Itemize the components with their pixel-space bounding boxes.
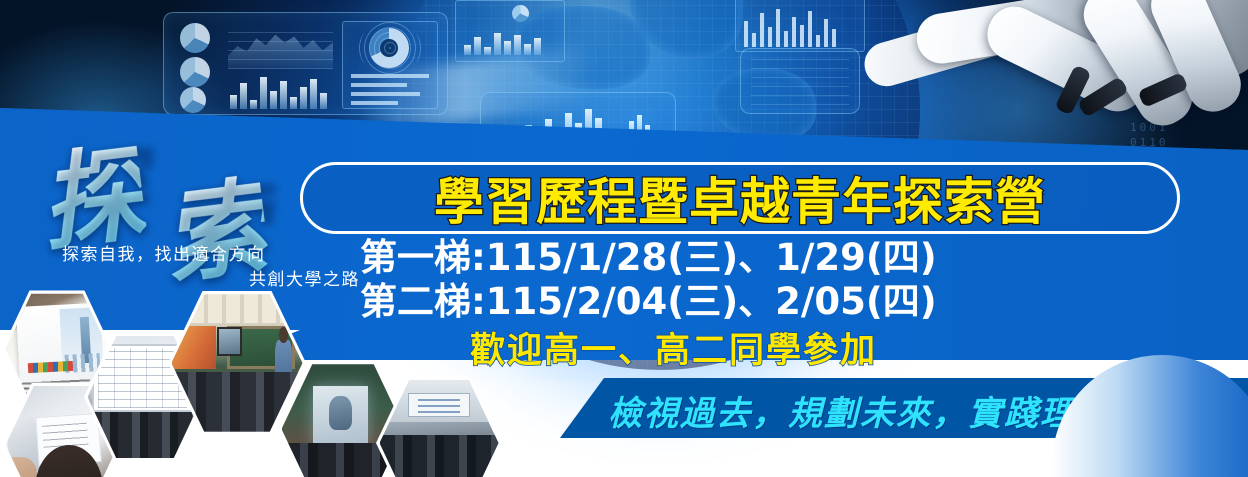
corner-dome-decoration bbox=[1052, 355, 1248, 477]
hud-pie-chart bbox=[180, 23, 210, 53]
hud-subpanel bbox=[342, 21, 438, 109]
tagline-line-2: 共創大學之路 bbox=[62, 268, 362, 293]
hud-grid bbox=[228, 25, 333, 69]
session-dates: 第一梯:115/1/28(三)、1/29(四) 第二梯:115/2/04(三)、… bbox=[360, 236, 1160, 324]
hud-pie-chart bbox=[512, 5, 529, 22]
left-tagline: 探索自我，找出適合方向 共創大學之路 bbox=[62, 243, 362, 293]
hud-rings bbox=[359, 20, 421, 76]
promo-banner: 10110 01001 11010 0 1 0 1 1 0 1 1 1001 0… bbox=[0, 0, 1248, 477]
session-date-2: 第二梯:115/2/04(三)、2/05(四) bbox=[360, 280, 1160, 324]
hud-pie-chart bbox=[180, 57, 210, 87]
hud-text-lines bbox=[351, 74, 429, 110]
event-title: 學習歷程暨卓越青年探索營 bbox=[434, 162, 1046, 234]
welcome-message: 歡迎高一、高二同學參加 bbox=[470, 322, 877, 373]
photo-group-discussion bbox=[380, 378, 499, 477]
slogan-text: 檢視過去，規劃未來，實踐理想 bbox=[608, 386, 1112, 435]
photo-hex-group bbox=[376, 374, 502, 477]
tagline-line-1: 探索自我，找出適合方向 bbox=[62, 245, 266, 265]
hud-grid bbox=[751, 57, 849, 105]
hud-frame-panel bbox=[740, 48, 860, 114]
hud-candles bbox=[744, 5, 836, 47]
title-pill: 學習歷程暨卓越青年探索營 bbox=[300, 162, 1180, 234]
hud-mini-panel bbox=[455, 0, 565, 62]
hud-bar-chart bbox=[464, 29, 541, 55]
hud-candlestick-panel bbox=[735, 0, 865, 52]
session-date-1: 第一梯:115/1/28(三)、1/29(四) bbox=[360, 236, 1160, 280]
